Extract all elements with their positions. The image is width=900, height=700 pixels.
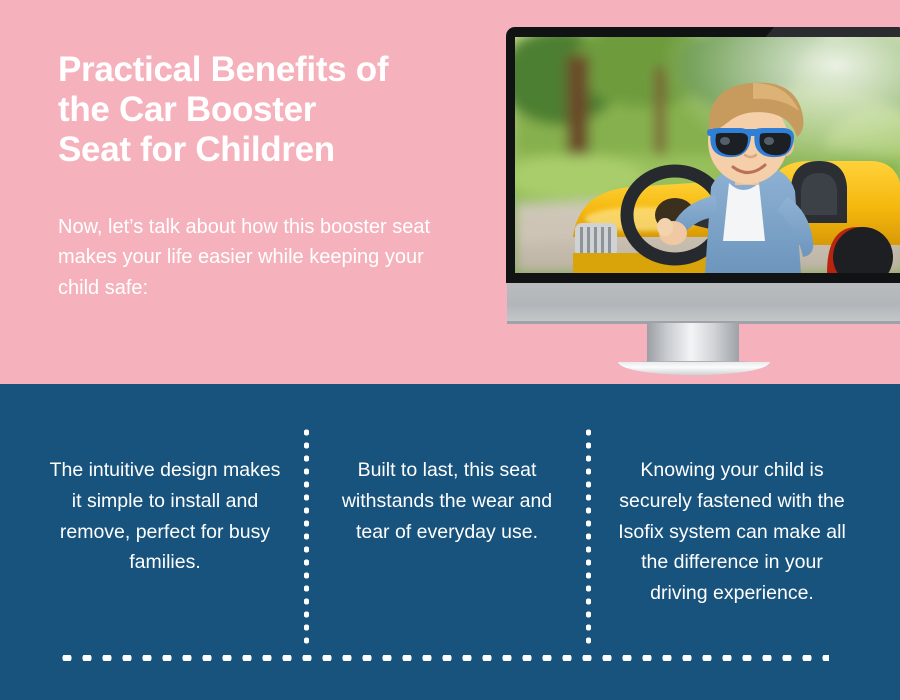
page-subtitle-line-1: Now, let’s talk about how this booster s…	[58, 212, 478, 242]
page-subtitle-line-3: child safe:	[58, 273, 478, 303]
page-title: Practical Benefits of the Car Booster Se…	[58, 50, 478, 170]
page-title-line-2: the Car Booster	[58, 90, 478, 130]
child-in-toy-car-photo	[515, 37, 900, 273]
page-subtitle: Now, let’s talk about how this booster s…	[58, 212, 478, 303]
page-title-line-3: Seat for Children	[58, 130, 478, 170]
page-subtitle-line-2: makes your life easier while keeping you…	[58, 242, 478, 272]
monitor-stand-base	[618, 362, 770, 375]
vertical-dotted-divider-1	[304, 426, 309, 648]
desktop-monitor-icon	[506, 27, 900, 377]
page-title-line-1: Practical Benefits of	[58, 50, 478, 90]
monitor-stand-neck	[647, 323, 739, 365]
monitor-screen	[515, 37, 900, 273]
infographic-canvas: Practical Benefits of the Car Booster Se…	[0, 0, 900, 700]
vertical-dotted-divider-2	[586, 426, 591, 648]
benefit-item-isofix-security: Knowing your child is securely fastened …	[612, 455, 852, 609]
horizontal-dotted-divider	[57, 655, 829, 661]
monitor-chin	[507, 283, 900, 323]
benefit-item-durability: Built to last, this seat withstands the …	[330, 455, 564, 547]
benefit-item-ease-of-installation: The intuitive design makes it simple to …	[48, 455, 282, 578]
